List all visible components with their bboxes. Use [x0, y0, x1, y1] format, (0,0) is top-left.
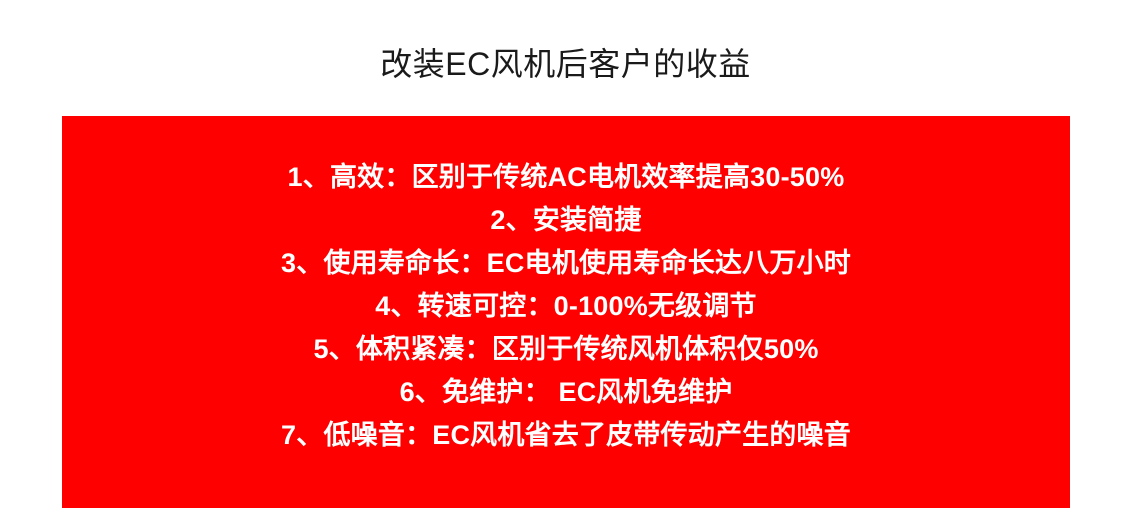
list-item: 5、体积紧凑：区别于传统风机体积仅50% [62, 328, 1070, 371]
page-title: 改装EC风机后客户的收益 [0, 44, 1131, 84]
slide-canvas: 改装EC风机后客户的收益 1、高效：区别于传统AC电机效率提高30-50% 2、… [0, 0, 1131, 532]
list-item: 6、免维护： EC风机免维护 [62, 371, 1070, 414]
list-item: 1、高效：区别于传统AC电机效率提高30-50% [62, 156, 1070, 199]
list-item: 2、安装简捷 [62, 199, 1070, 242]
list-item: 7、低噪音：EC风机省去了皮带传动产生的噪音 [62, 414, 1070, 457]
list-item: 3、使用寿命长：EC电机使用寿命长达八万小时 [62, 242, 1070, 285]
benefits-panel: 1、高效：区别于传统AC电机效率提高30-50% 2、安装简捷 3、使用寿命长：… [62, 116, 1070, 508]
list-item: 4、转速可控：0-100%无级调节 [62, 285, 1070, 328]
benefits-list: 1、高效：区别于传统AC电机效率提高30-50% 2、安装简捷 3、使用寿命长：… [62, 156, 1070, 457]
